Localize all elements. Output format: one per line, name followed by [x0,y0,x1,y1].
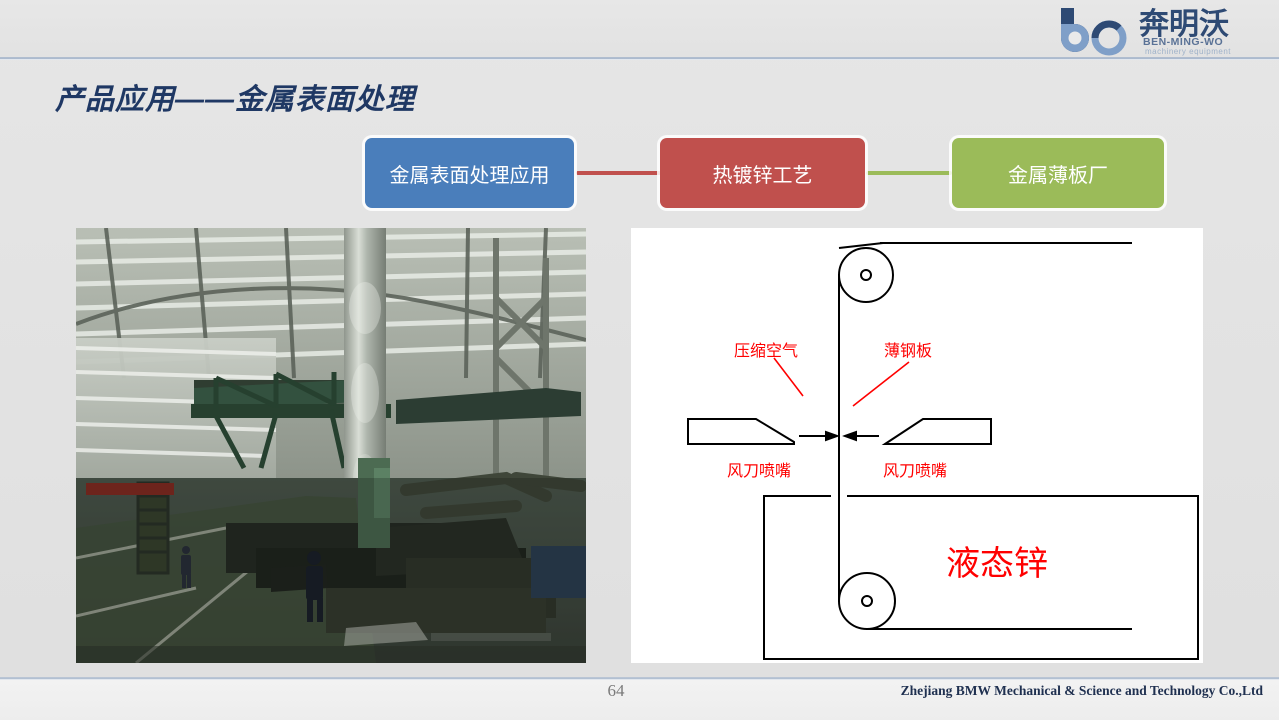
header-divider [0,57,1279,60]
brand-tagline-text: machinery equipment [1145,47,1231,56]
process-flow: 金属表面处理应用 热镀锌工艺 金属薄板厂 [0,138,1279,210]
connector-red-to-green [866,171,952,175]
label-liquid-zinc: 液态锌 [946,544,1048,584]
page-number: 64 [596,681,636,701]
bo-monogram-icon [1061,8,1123,52]
connector-blue-to-red [576,171,661,175]
label-compressed-air: 压缩空气 [734,341,798,360]
flow-box-sheet-metal-plant[interactable]: 金属薄板厂 [952,138,1164,208]
flow-box-metal-surface-treatment[interactable]: 金属表面处理应用 [365,138,574,208]
factory-photo [76,228,586,663]
slide: 奔明沃 BEN-MING-WO machinery equipment 产品应用… [0,0,1279,720]
label-thin-steel-plate: 薄钢板 [884,341,932,360]
label-air-knife-right: 风刀喷嘴 [883,461,947,480]
galvanizing-process-diagram: 压缩空气 薄钢板 风刀喷嘴 风刀喷嘴 液态锌 [631,228,1203,663]
page-title: 产品应用——金属表面处理 [55,76,415,118]
company-logo: 奔明沃 BEN-MING-WO machinery equipment [1047,4,1267,56]
flow-box-hot-dip-galvanizing[interactable]: 热镀锌工艺 [660,138,865,208]
label-air-knife-left: 风刀喷嘴 [727,461,791,480]
footer-company-name: Zhejiang BMW Mechanical & Science and Te… [901,683,1263,699]
